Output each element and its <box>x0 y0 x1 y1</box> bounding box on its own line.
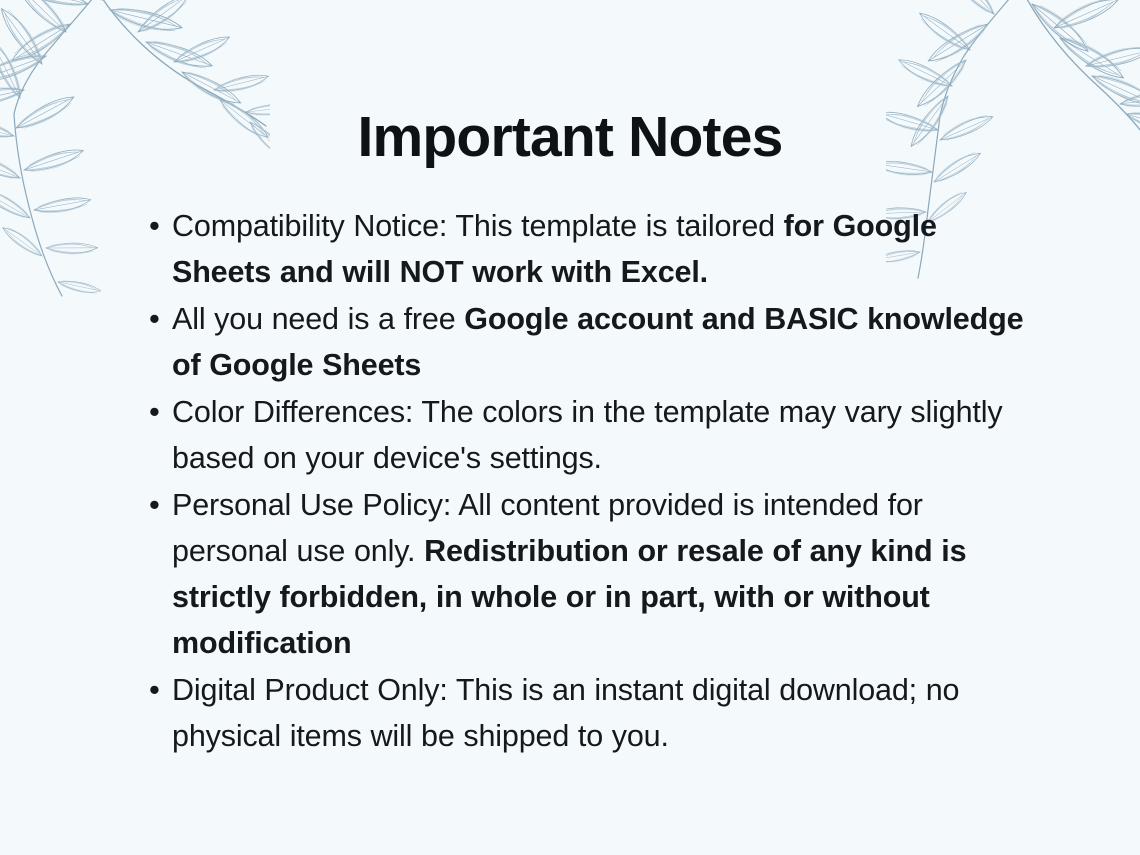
bullet-point-icon: • <box>138 667 172 713</box>
list-item-text: Personal Use Policy: All content provide… <box>172 482 1038 666</box>
list-item: • Compatibility Notice: This template is… <box>138 203 1038 295</box>
list-item: • All you need is a free Google account … <box>138 296 1038 388</box>
bullet-point-icon: • <box>138 389 172 435</box>
list-item-text: All you need is a free Google account an… <box>172 296 1038 388</box>
list-item-text: Color Differences: The colors in the tem… <box>172 389 1038 481</box>
important-notes-list: • Compatibility Notice: This template is… <box>138 203 1038 760</box>
slide-canvas: Important Notes • Compatibility Notice: … <box>0 0 1140 855</box>
list-item-text: Digital Product Only: This is an instant… <box>172 667 1038 759</box>
page-title: Important Notes <box>0 106 1140 169</box>
list-item-text: Compatibility Notice: This template is t… <box>172 203 1038 295</box>
bullet-point-icon: • <box>138 296 172 342</box>
bullet-point-icon: • <box>138 482 172 528</box>
bullet-point-icon: • <box>138 203 172 249</box>
list-item: • Color Differences: The colors in the t… <box>138 389 1038 481</box>
list-item: • Personal Use Policy: All content provi… <box>138 482 1038 666</box>
list-item: • Digital Product Only: This is an insta… <box>138 667 1038 759</box>
